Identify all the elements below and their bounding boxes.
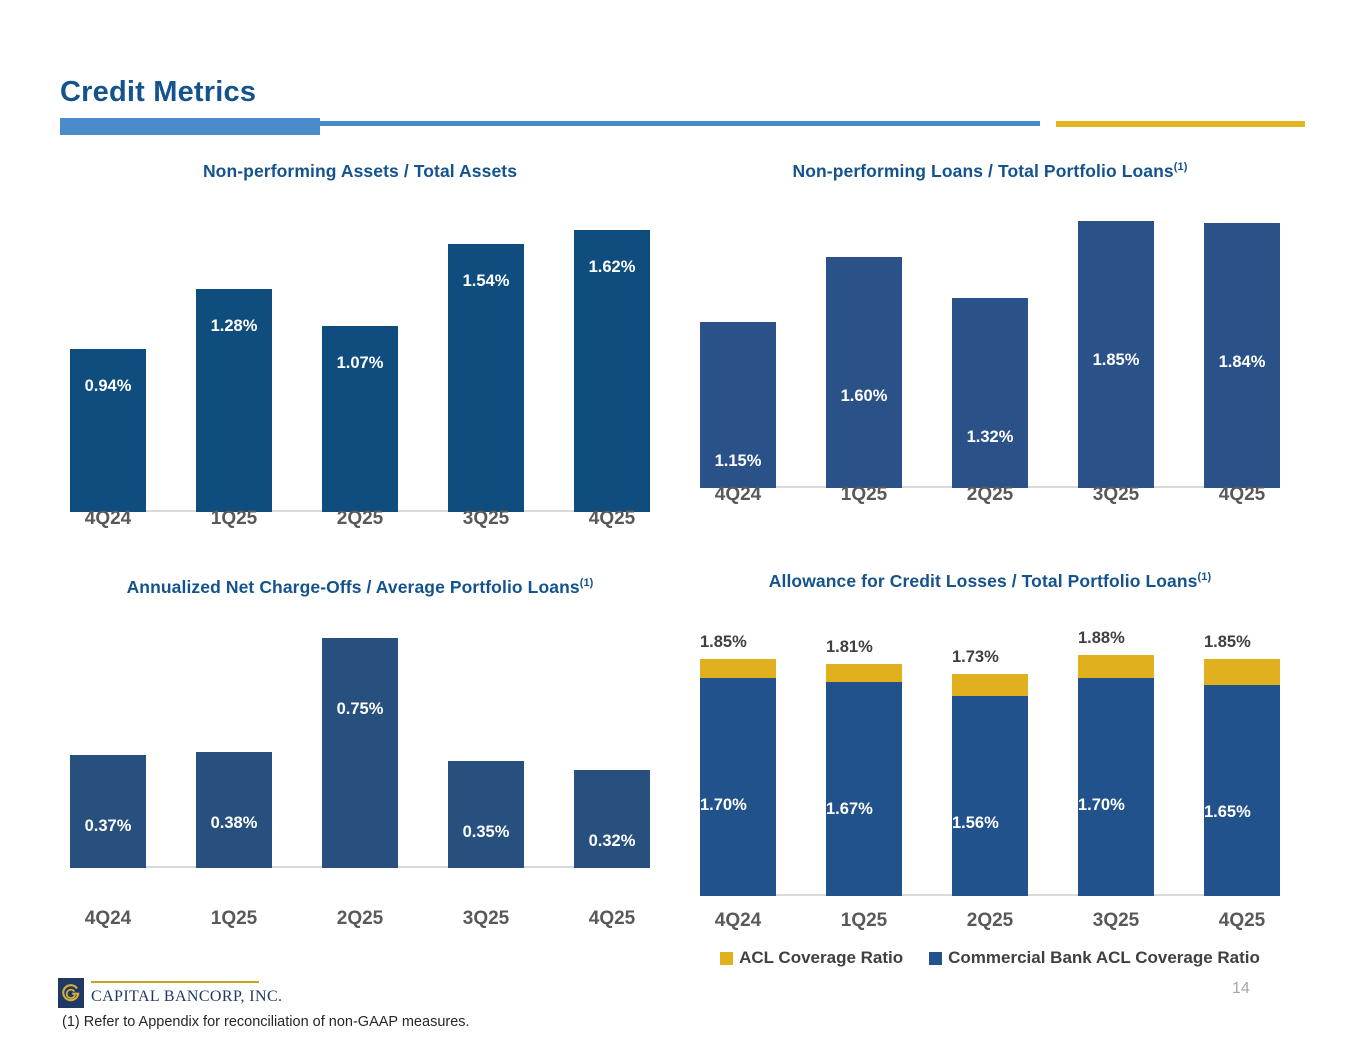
- bar-slot: 1.88%1.70%: [1078, 624, 1154, 896]
- chart-title: Allowance for Credit Losses / Total Port…: [700, 570, 1280, 592]
- bar-group: 0.94%1.28%1.07%1.54%1.62%: [70, 202, 650, 512]
- x-axis-category-labels: 4Q241Q252Q253Q254Q25: [70, 508, 650, 530]
- chart-panel-npl-total-portfolio-loans: Non-performing Loans / Total Portfolio L…: [700, 160, 1280, 560]
- bar-value-label: 1.85%: [1093, 351, 1140, 370]
- bar: 1.15%: [700, 322, 776, 488]
- bar-slot: 1.32%: [952, 202, 1028, 488]
- chart-plot-area: 1.15%1.60%1.32%1.85%1.84%: [700, 202, 1280, 488]
- bar-segment-commercial-bank-acl: 1.70%: [700, 678, 776, 896]
- x-axis-label: 4Q24: [700, 910, 776, 932]
- x-axis-label: 1Q25: [826, 484, 902, 506]
- bar-slot: 1.85%: [1078, 202, 1154, 488]
- bar-total-label: 1.85%: [1204, 633, 1251, 652]
- x-axis-label: 4Q24: [70, 908, 146, 930]
- bar-slot: 0.37%: [70, 616, 146, 868]
- x-axis-label: 3Q25: [448, 508, 524, 530]
- bar-value-label: 1.54%: [463, 272, 510, 291]
- bar-slot: 1.62%: [574, 202, 650, 512]
- x-axis-label: 1Q25: [196, 908, 272, 930]
- bar: 0.32%: [574, 770, 650, 868]
- bar-segment-acl-coverage-ratio: [826, 664, 902, 682]
- chart-title: Annualized Net Charge-Offs / Average Por…: [70, 576, 650, 598]
- bar-slot: 1.60%: [826, 202, 902, 488]
- stacked-bar: 1.85%1.65%: [1204, 659, 1280, 896]
- bar-group: 1.15%1.60%1.32%1.85%1.84%: [700, 202, 1280, 488]
- chart-panel-npa-total-assets: Non-performing Assets / Total Assets 0.9…: [70, 160, 650, 560]
- legend-label: Commercial Bank ACL Coverage Ratio: [948, 948, 1260, 968]
- bar-value-label: 0.35%: [463, 823, 510, 842]
- chart-panel-nco-average-portfolio-loans: Annualized Net Charge-Offs / Average Por…: [70, 576, 650, 976]
- x-axis-label: 4Q25: [1204, 484, 1280, 506]
- bar-slot: 0.32%: [574, 616, 650, 868]
- legend-item[interactable]: ACL Coverage Ratio: [720, 948, 903, 968]
- x-axis-label: 2Q25: [952, 484, 1028, 506]
- slide: Credit Metrics Non-performing Assets / T…: [0, 0, 1365, 1055]
- bar-slot: 1.85%1.70%: [700, 624, 776, 896]
- x-axis-label: 3Q25: [448, 908, 524, 930]
- bar-value-label: 0.38%: [211, 814, 258, 833]
- legend-swatch-icon: [929, 952, 942, 965]
- bar: 1.32%: [952, 298, 1028, 489]
- x-axis-label: 2Q25: [322, 908, 398, 930]
- bar-value-label: 0.75%: [337, 700, 384, 719]
- bar: 1.54%: [448, 244, 524, 512]
- bar-slot: 1.81%1.67%: [826, 624, 902, 896]
- chart-plot-area: 0.37%0.38%0.75%0.35%0.32%: [70, 616, 650, 868]
- bar: 0.38%: [196, 752, 272, 869]
- chart-legend: ACL Coverage RatioCommercial Bank ACL Co…: [700, 948, 1280, 968]
- bar-slot: 0.38%: [196, 616, 272, 868]
- legend-swatch-icon: [720, 952, 733, 965]
- x-axis-label: 1Q25: [196, 508, 272, 530]
- x-axis-category-labels: 4Q241Q252Q253Q254Q25: [700, 484, 1280, 506]
- bar-slot: 1.28%: [196, 202, 272, 512]
- bar-value-label: 1.28%: [211, 317, 258, 336]
- x-axis-label: 4Q25: [1204, 910, 1280, 932]
- logo-rule: [91, 981, 259, 983]
- bar-value-label: 1.62%: [589, 258, 636, 277]
- stacked-bar: 1.81%1.67%: [826, 664, 902, 896]
- bar-slot: 0.75%: [322, 616, 398, 868]
- bar: 1.84%: [1204, 223, 1280, 489]
- bar-slot: 0.94%: [70, 202, 146, 512]
- x-axis-label: 1Q25: [826, 910, 902, 932]
- bar-slot: 1.73%1.56%: [952, 624, 1028, 896]
- company-logo: CAPITAL BANCORP, INC.: [58, 978, 282, 1008]
- bar: 0.94%: [70, 349, 146, 513]
- bar: 1.28%: [196, 289, 272, 512]
- bar-value-label: 1.84%: [1219, 353, 1266, 372]
- x-axis-category-labels: 4Q241Q252Q253Q254Q25: [700, 910, 1280, 932]
- stacked-bar: 1.88%1.70%: [1078, 655, 1154, 896]
- bar-slot: 1.84%: [1204, 202, 1280, 488]
- bar-slot: 0.35%: [448, 616, 524, 868]
- x-axis-label: 4Q24: [700, 484, 776, 506]
- bar-segment-commercial-bank-acl: 1.70%: [1078, 678, 1154, 896]
- x-axis-label: 2Q25: [952, 910, 1028, 932]
- legend-item[interactable]: Commercial Bank ACL Coverage Ratio: [929, 948, 1260, 968]
- page-number: 14: [1232, 980, 1250, 998]
- bar-segment-commercial-bank-acl: 1.56%: [952, 696, 1028, 896]
- bar: 0.37%: [70, 755, 146, 869]
- header-rule-gold: [1056, 121, 1305, 127]
- bar-group: 0.37%0.38%0.75%0.35%0.32%: [70, 616, 650, 868]
- bar-segment-acl-coverage-ratio: [952, 674, 1028, 696]
- bar-segment-commercial-bank-acl: 1.67%: [826, 682, 902, 896]
- bar-segment-acl-coverage-ratio: [1204, 659, 1280, 685]
- bar-value-label: 1.70%: [1078, 796, 1125, 815]
- bar: 1.60%: [826, 257, 902, 488]
- page-title: Credit Metrics: [60, 76, 256, 109]
- bar-slot: 1.85%1.65%: [1204, 624, 1280, 896]
- bar-value-label: 1.60%: [841, 387, 888, 406]
- bar: 1.07%: [322, 326, 398, 512]
- x-axis-label: 4Q25: [574, 908, 650, 930]
- chart-plot-area: 0.94%1.28%1.07%1.54%1.62%: [70, 202, 650, 512]
- bar: 1.62%: [574, 230, 650, 512]
- bar: 0.35%: [448, 761, 524, 869]
- stacked-bar: 1.73%1.56%: [952, 674, 1028, 896]
- legend-label: ACL Coverage Ratio: [739, 948, 903, 968]
- header-rule-blue-thick: [60, 118, 320, 135]
- bar: 1.85%: [1078, 221, 1154, 488]
- bar-value-label: 1.70%: [700, 796, 747, 815]
- x-axis-label: 2Q25: [322, 508, 398, 530]
- spiral-g-icon: [60, 981, 82, 1005]
- bar-value-label: 1.15%: [715, 452, 762, 471]
- bar-total-label: 1.88%: [1078, 629, 1125, 648]
- bar-slot: 1.15%: [700, 202, 776, 488]
- x-axis-category-labels: 4Q241Q252Q253Q254Q25: [70, 908, 650, 930]
- bar-total-label: 1.85%: [700, 633, 747, 652]
- chart-title: Non-performing Assets / Total Assets: [70, 160, 650, 182]
- bar-value-label: 0.37%: [85, 817, 132, 836]
- bar-value-label: 1.32%: [967, 428, 1014, 447]
- chart-panel-acl-total-portfolio-loans: Allowance for Credit Losses / Total Port…: [700, 570, 1280, 970]
- logo-wordmark: CAPITAL BANCORP, INC.: [91, 988, 282, 1006]
- bar-value-label: 0.32%: [589, 832, 636, 851]
- bar-value-label: 1.67%: [826, 800, 873, 819]
- footnote: (1) Refer to Appendix for reconciliation…: [62, 1014, 470, 1030]
- bar-value-label: 1.56%: [952, 814, 999, 833]
- bar-segment-acl-coverage-ratio: [700, 659, 776, 678]
- bar-value-label: 1.65%: [1204, 803, 1251, 822]
- stacked-bar: 1.85%1.70%: [700, 659, 776, 896]
- x-axis-label: 4Q25: [574, 508, 650, 530]
- bar-segment-commercial-bank-acl: 1.65%: [1204, 685, 1280, 897]
- bar-value-label: 1.07%: [337, 354, 384, 373]
- bar-value-label: 0.94%: [85, 377, 132, 396]
- bar-slot: 1.54%: [448, 202, 524, 512]
- logo-mark-icon: [58, 978, 84, 1008]
- bar-group: 1.85%1.70%1.81%1.67%1.73%1.56%1.88%1.70%…: [700, 624, 1280, 896]
- x-axis-label: 3Q25: [1078, 484, 1154, 506]
- bar-total-label: 1.81%: [826, 638, 873, 657]
- bar-segment-acl-coverage-ratio: [1078, 655, 1154, 678]
- chart-plot-area: 1.85%1.70%1.81%1.67%1.73%1.56%1.88%1.70%…: [700, 624, 1280, 896]
- x-axis-label: 4Q24: [70, 508, 146, 530]
- bar-slot: 1.07%: [322, 202, 398, 512]
- bar: 0.75%: [322, 638, 398, 868]
- bar-total-label: 1.73%: [952, 648, 999, 667]
- chart-title: Non-performing Loans / Total Portfolio L…: [700, 160, 1280, 182]
- x-axis-label: 3Q25: [1078, 910, 1154, 932]
